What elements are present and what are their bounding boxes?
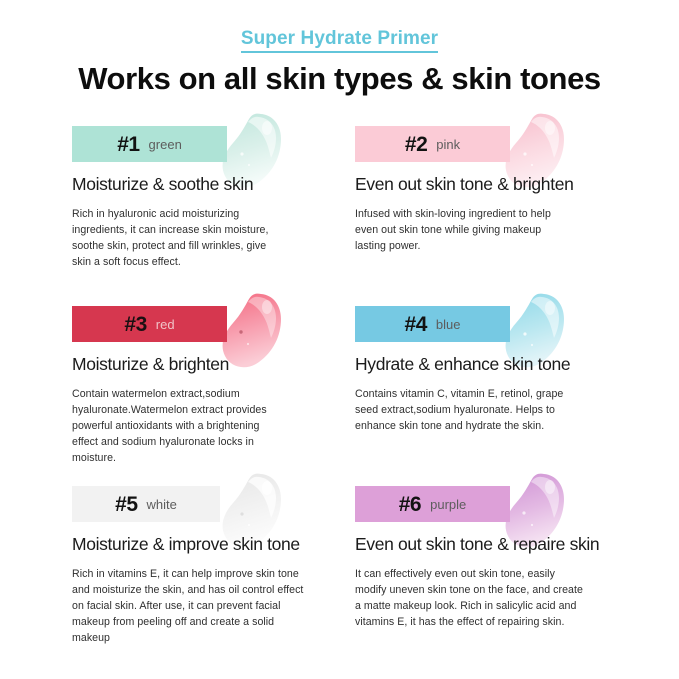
product-name-eyebrow: Super Hydrate Primer [241, 28, 438, 53]
shade-description: Rich in hyaluronic acid moisturizing ing… [72, 206, 287, 270]
shade-card-2: #2 pink Even out skin tone & brighten In… [355, 112, 638, 292]
shade-number: #3 [124, 314, 146, 335]
shade-description: Contain watermelon extract,sodium hyalur… [72, 386, 287, 466]
shade-card-grid: #1 green Moisturize & soothe skin Rich i… [0, 112, 679, 652]
shade-color-name: white [147, 498, 177, 511]
shade-label-bar-6: #6 purple [355, 486, 510, 522]
page-header: Super Hydrate Primer Works on all skin t… [0, 0, 679, 97]
shade-number: #4 [405, 314, 427, 335]
shade-heading: Even out skin tone & brighten [355, 174, 643, 195]
shade-label-bar-1: #1 green [72, 126, 227, 162]
shade-heading: Even out skin tone & repaire skin [355, 534, 643, 555]
shade-label-bar-2: #2 pink [355, 126, 510, 162]
shade-heading: Moisturize & improve skin tone [72, 534, 360, 555]
shade-number: #2 [405, 134, 427, 155]
shade-number: #5 [115, 494, 137, 515]
shade-label-bar-5: #5 white [72, 486, 220, 522]
shade-label-bar-3: #3 red [72, 306, 227, 342]
shade-color-name: purple [430, 498, 466, 511]
shade-color-name: pink [436, 138, 460, 151]
shade-card-5: #5 white Moisturize & improve skin tone … [72, 472, 355, 652]
shade-color-name: blue [436, 318, 461, 331]
infographic-page: Super Hydrate Primer Works on all skin t… [0, 0, 679, 679]
shade-description: It can effectively even out skin tone, e… [355, 566, 587, 630]
shade-heading: Hydrate & enhance skin tone [355, 354, 643, 375]
shade-color-name: green [149, 138, 182, 151]
shade-heading: Moisturize & brighten [72, 354, 360, 375]
shade-heading: Moisturize & soothe skin [72, 174, 360, 195]
shade-color-name: red [156, 318, 175, 331]
shade-description: Infused with skin-loving ingredient to h… [355, 206, 570, 254]
shade-card-4: #4 blue Hydrate & enhance skin tone Cont… [355, 292, 638, 472]
shade-description: Rich in vitamins E, it can help improve … [72, 566, 304, 646]
shade-card-1: #1 green Moisturize & soothe skin Rich i… [72, 112, 355, 292]
shade-card-6: #6 purple Even out skin tone & repaire s… [355, 472, 638, 652]
shade-description: Contains vitamin C, vitamin E, retinol, … [355, 386, 570, 434]
shade-card-3: #3 red Moisturize & brighten Contain wat… [72, 292, 355, 472]
shade-number: #1 [117, 134, 139, 155]
shade-number: #6 [399, 494, 421, 515]
shade-label-bar-4: #4 blue [355, 306, 510, 342]
page-title: Works on all skin types & skin tones [0, 62, 679, 97]
